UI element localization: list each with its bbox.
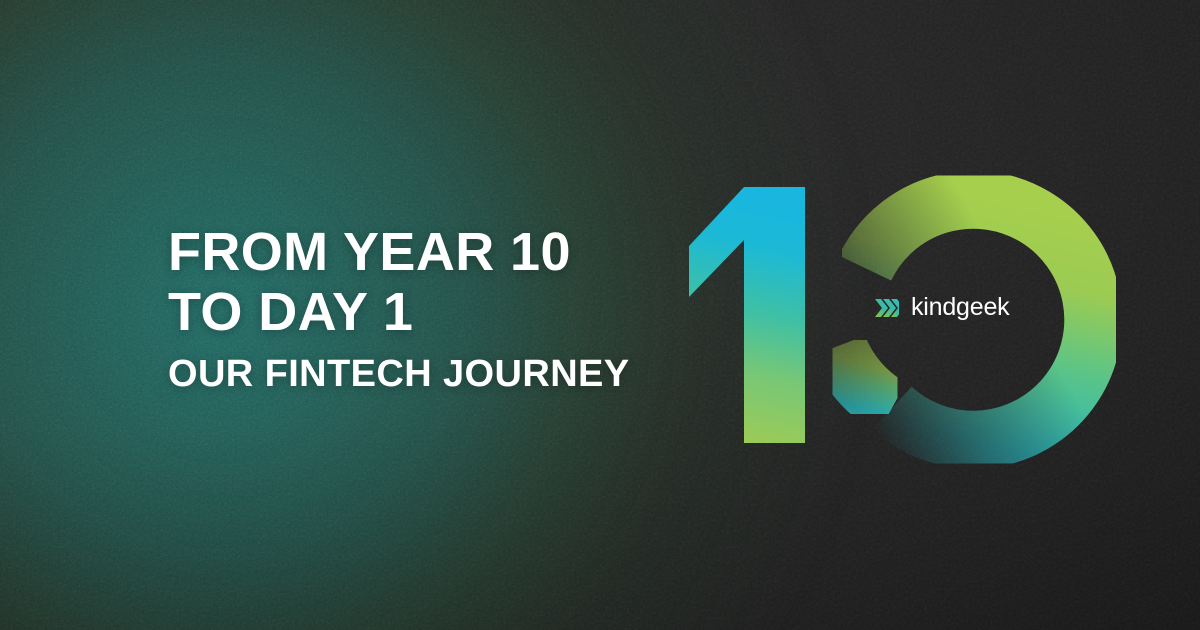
headline-block: FROM YEAR 10 TO DAY 1 OUR FINTECH JOURNE… <box>168 222 630 396</box>
banner-canvas: FROM YEAR 10 TO DAY 1 OUR FINTECH JOURNE… <box>0 0 1200 630</box>
headline-subline: OUR FINTECH JOURNEY <box>168 352 630 396</box>
headline-line-2: TO DAY 1 <box>168 282 630 342</box>
kindgeek-wordmark: kindgeek <box>911 295 1009 320</box>
headline-line-1: FROM YEAR 10 <box>168 222 630 282</box>
digit-one-shape <box>689 187 805 443</box>
double-chevron-icon <box>874 296 900 320</box>
kindgeek-logo: kindgeek <box>874 295 1009 320</box>
